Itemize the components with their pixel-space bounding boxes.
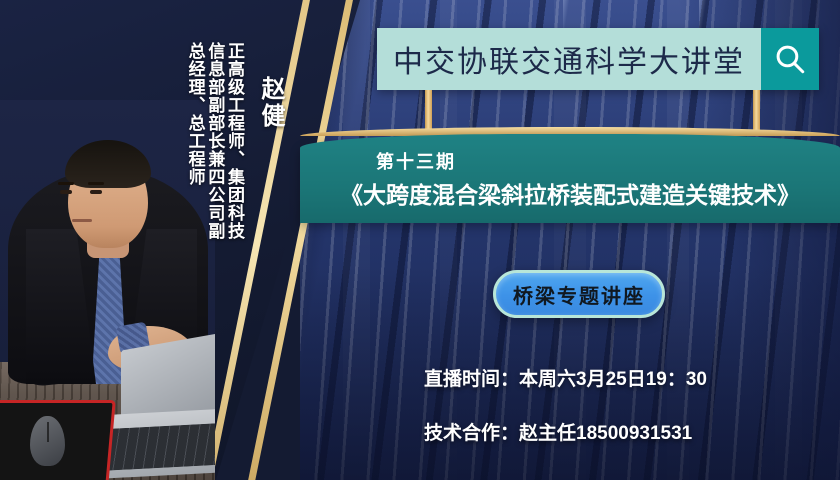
eyebrow-right: [88, 182, 104, 185]
program-banner: 中交协联交通科学大讲堂: [377, 28, 819, 90]
search-button[interactable]: [761, 28, 819, 90]
issue-number: 第十三期: [376, 148, 456, 174]
eyebrow-left: [58, 182, 74, 185]
banner-title-area: 中交协联交通科学大讲堂: [377, 28, 761, 90]
computer-mouse: [30, 416, 65, 466]
search-icon: [773, 42, 807, 76]
speaker-credential-1: 正高级工程师、集团科技: [225, 42, 243, 240]
poster-canvas: 赵健 正高级工程师、集团科技 信息部副部长兼四公司副 总经理、总工程师 中交协联…: [0, 0, 840, 480]
banner-title: 中交协联交通科学大讲堂: [393, 37, 745, 81]
speaker-text-block: 赵健 正高级工程师、集团科技 信息部副部长兼四公司副 总经理、总工程师: [186, 14, 282, 314]
contact-info: 技术合作：赵主任18500931531: [424, 418, 707, 445]
mouth: [72, 219, 92, 222]
speaker-credential-2: 信息部副部长兼四公司副: [206, 42, 224, 240]
lecture-title: 《大跨度混合梁斜拉桥装配式建造关键技术》: [300, 176, 840, 210]
architecture-shaft: [343, 0, 370, 480]
topic-badge-label: 桥梁专题讲座: [513, 280, 645, 309]
eye-right: [90, 190, 102, 194]
plate-body: 第十三期 《大跨度混合梁斜拉桥装配式建造关键技术》: [300, 134, 840, 223]
speaker-credential-3: 总经理、总工程师: [186, 42, 204, 186]
broadcast-time: 直播时间：本周六3月25日19：30: [424, 364, 707, 391]
info-block: 直播时间：本周六3月25日19：30 技术合作：赵主任18500931531: [424, 364, 707, 472]
title-plate: 第十三期 《大跨度混合梁斜拉桥装配式建造关键技术》: [300, 127, 840, 223]
speaker-photo: [0, 100, 215, 480]
speaker-name: 赵健: [257, 76, 282, 130]
topic-badge[interactable]: 桥梁专题讲座: [493, 270, 665, 318]
eye-left: [60, 190, 72, 194]
